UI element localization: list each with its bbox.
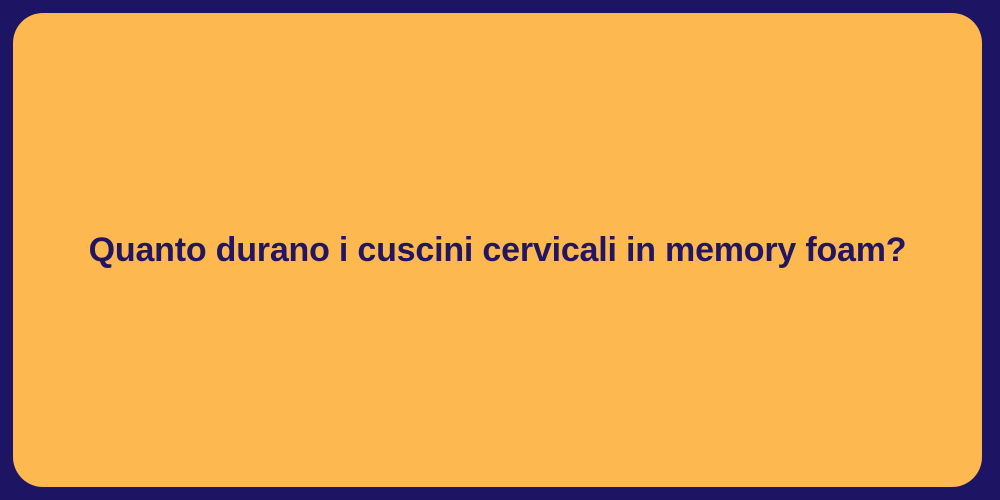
page-canvas: Quanto durano i cuscini cervicali in mem… bbox=[0, 0, 1000, 500]
page-title: Quanto durano i cuscini cervicali in mem… bbox=[89, 229, 907, 272]
headline-card: Quanto durano i cuscini cervicali in mem… bbox=[13, 13, 982, 487]
